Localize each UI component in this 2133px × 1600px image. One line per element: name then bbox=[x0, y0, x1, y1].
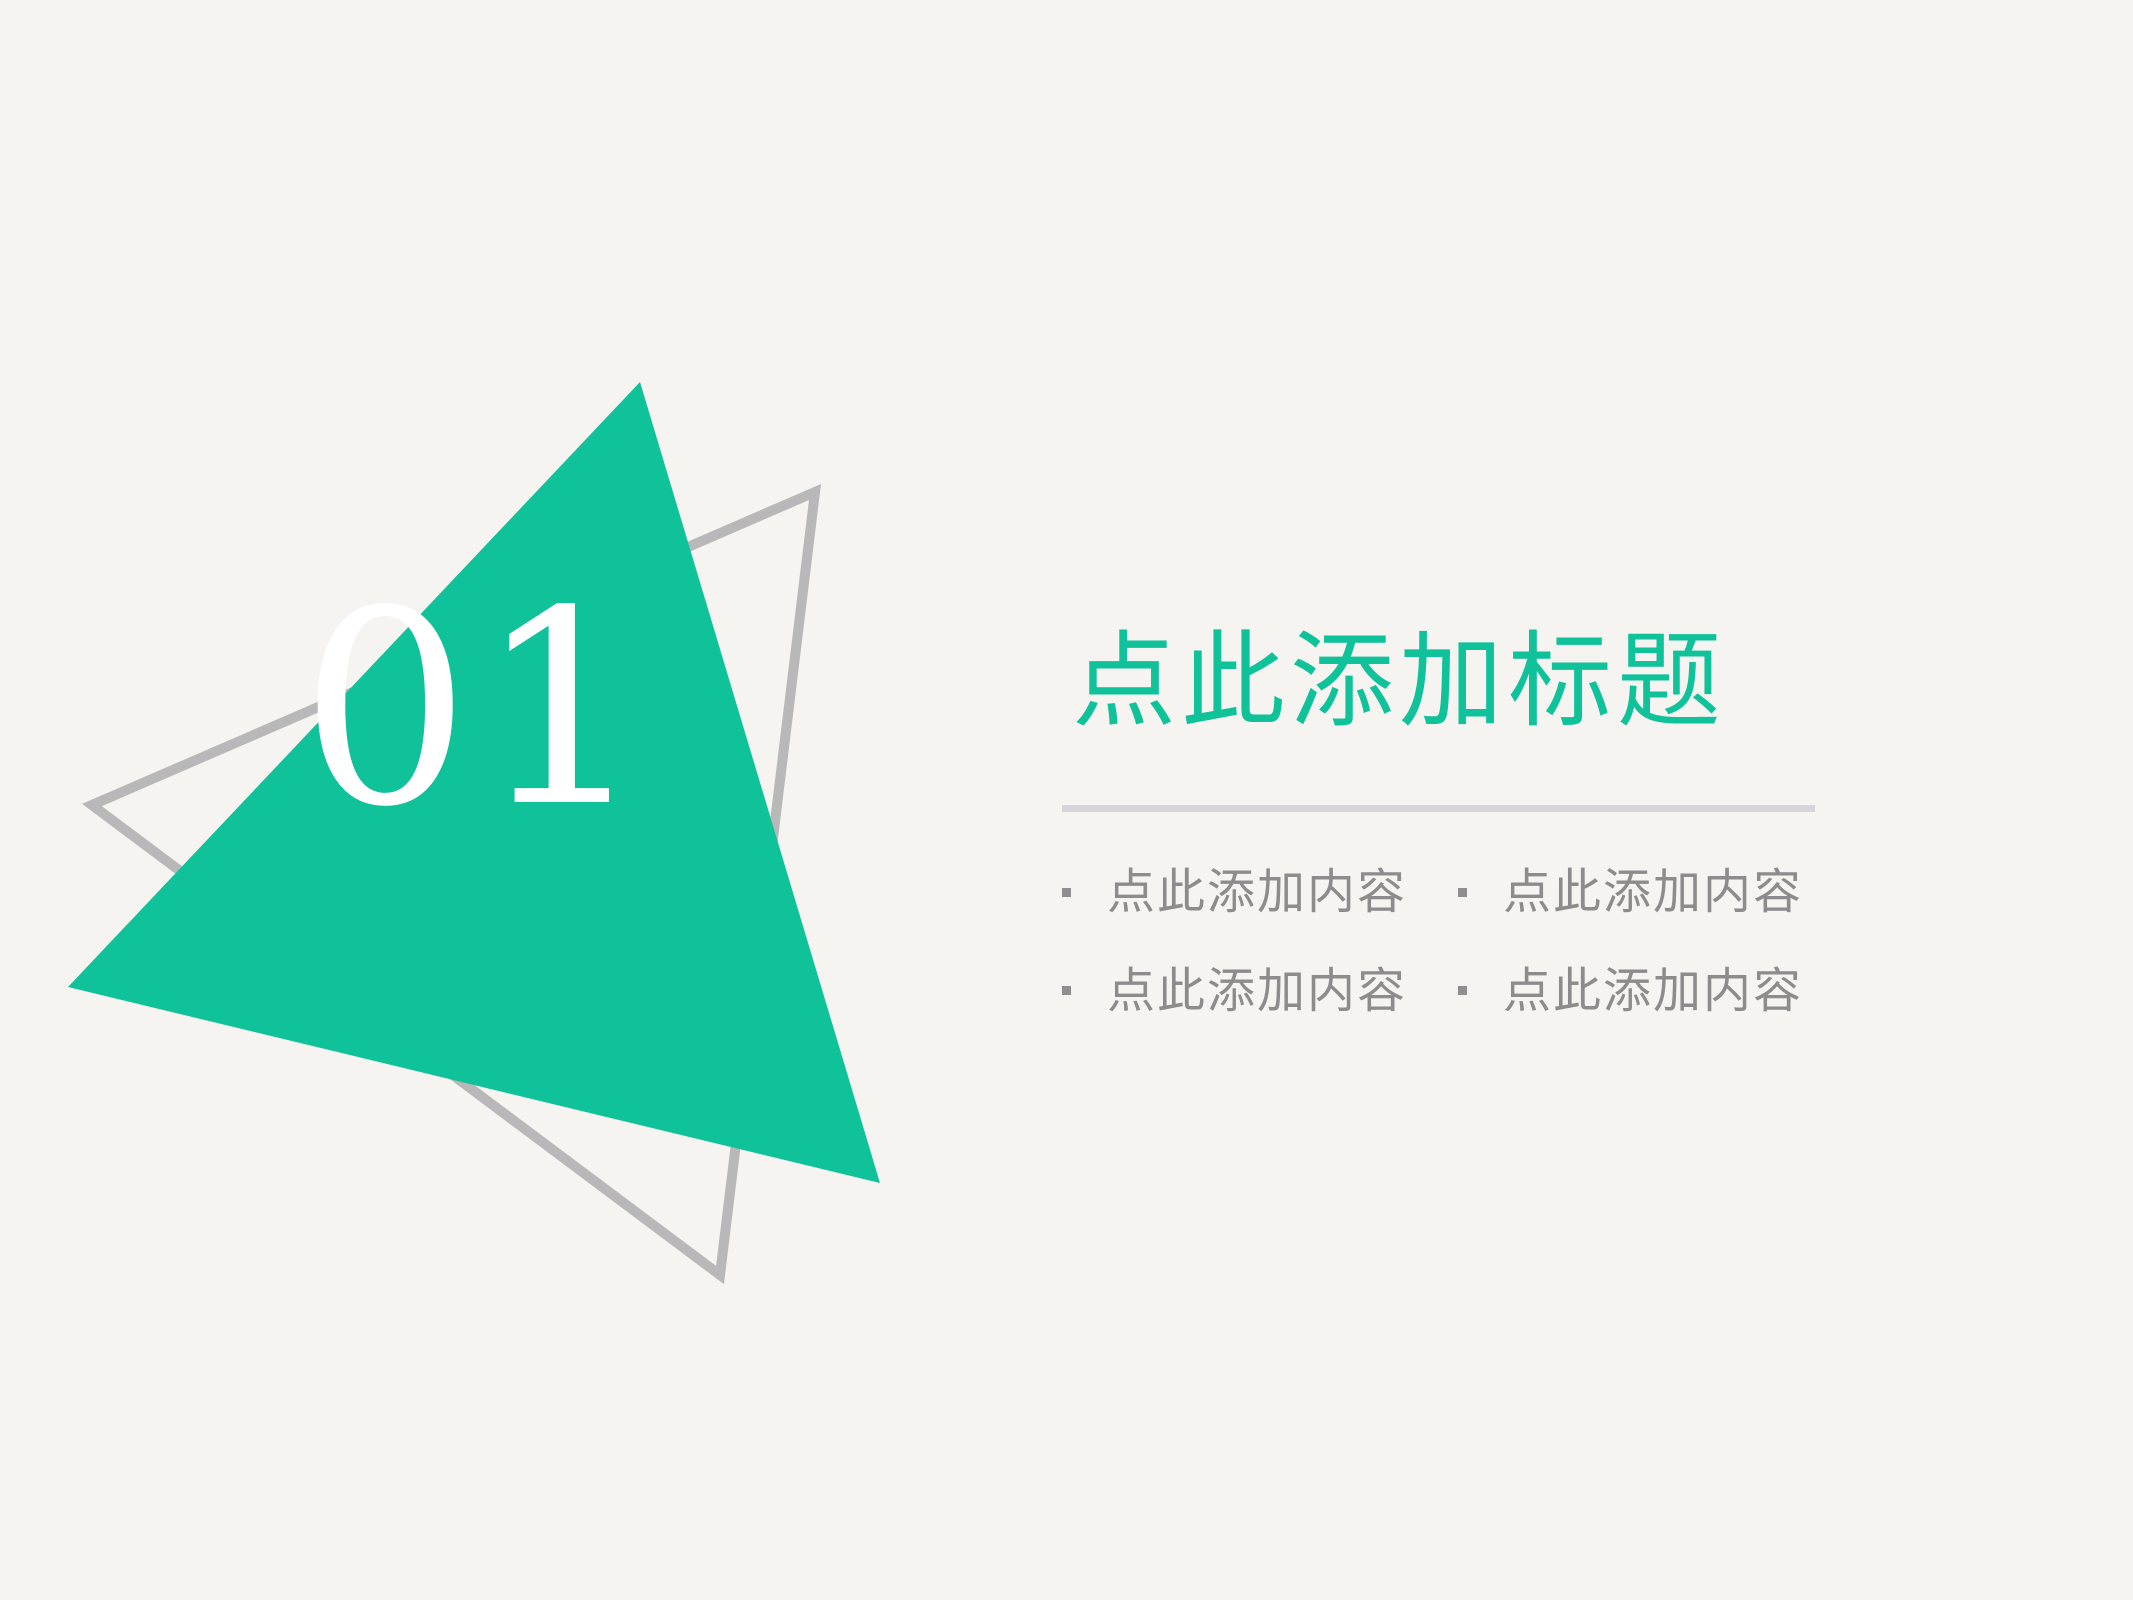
bullet-dot-icon bbox=[1458, 986, 1467, 995]
list-item[interactable]: 点此添加内容 bbox=[1458, 965, 1962, 1018]
page-title[interactable]: 点此添加标题 bbox=[1072, 620, 1962, 743]
list-item-label: 点此添加内容 bbox=[1503, 866, 1803, 919]
bullet-dot-icon bbox=[1458, 888, 1467, 897]
list-item-label: 点此添加内容 bbox=[1503, 965, 1803, 1018]
list-item[interactable]: 点此添加内容 bbox=[1062, 866, 1458, 919]
list-item[interactable]: 点此添加内容 bbox=[1458, 866, 1962, 919]
step-number: 01 bbox=[300, 560, 720, 860]
title-divider bbox=[1062, 805, 1815, 812]
bullet-dot-icon bbox=[1062, 888, 1071, 897]
list-item-label: 点此添加内容 bbox=[1107, 866, 1407, 919]
bullet-dot-icon bbox=[1062, 986, 1071, 995]
bullet-list: 点此添加内容 点此添加内容 点此添加内容 点此添加内容 bbox=[1062, 866, 1962, 1018]
slide-canvas: 01 点此添加标题 点此添加内容 点此添加内容 点此添加内容 点此添加内容 bbox=[0, 0, 2133, 1600]
list-item-label: 点此添加内容 bbox=[1107, 965, 1407, 1018]
content-panel: 点此添加标题 点此添加内容 点此添加内容 点此添加内容 点此添加内容 bbox=[1062, 620, 1962, 1017]
list-item[interactable]: 点此添加内容 bbox=[1062, 965, 1458, 1018]
